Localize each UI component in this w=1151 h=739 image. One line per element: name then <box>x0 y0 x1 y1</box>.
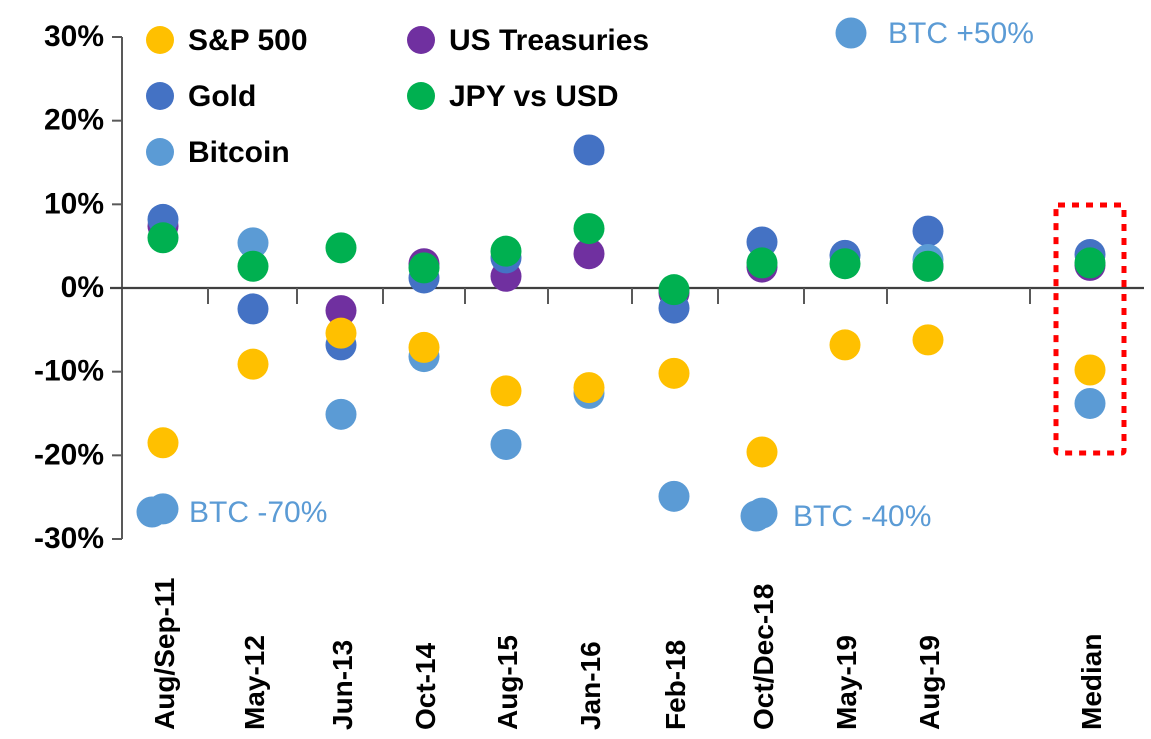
x-axis-tick-label: Jun-13 <box>327 640 358 730</box>
x-axis-tick-label: Aug-19 <box>914 635 945 730</box>
y-axis: 30%20%10%0%-10%-20%-30% <box>34 20 122 555</box>
btc-plus-50-marker <box>836 18 867 49</box>
legend-marker-4 <box>407 26 435 54</box>
y-axis-tick-label: 20% <box>44 104 104 137</box>
x-axis-tick-label: Aug-15 <box>492 635 523 730</box>
data-point[interactable] <box>238 293 269 324</box>
data-point[interactable] <box>747 436 778 467</box>
legend-marker-2 <box>146 82 174 110</box>
btc-minus-70-label: BTC -70% <box>189 496 327 529</box>
data-point[interactable] <box>574 134 605 165</box>
y-axis-tick-label: 10% <box>44 187 104 220</box>
data-point[interactable] <box>326 232 357 263</box>
data-point[interactable] <box>326 318 357 349</box>
data-point[interactable] <box>1075 354 1106 385</box>
data-point[interactable] <box>409 252 440 283</box>
data-point[interactable] <box>491 429 522 460</box>
x-axis-tick-label: Median <box>1076 634 1107 730</box>
data-point[interactable] <box>913 251 944 282</box>
data-point[interactable] <box>326 399 357 430</box>
x-axis: Aug/Sep-11May-12Jun-13Oct-14Aug-15Jan-16… <box>149 578 1107 730</box>
x-axis-tick-label: May-12 <box>239 635 270 730</box>
data-point[interactable] <box>659 481 690 512</box>
data-point[interactable] <box>913 216 944 247</box>
data-point[interactable] <box>830 248 861 279</box>
data-point[interactable] <box>747 247 778 278</box>
btc-minus-40-label: BTC -40% <box>793 500 931 533</box>
legend-label-3: Bitcoin <box>188 136 290 169</box>
data-point[interactable] <box>491 375 522 406</box>
btc-minus-40-marker <box>741 501 772 532</box>
legend-label-1: S&P 500 <box>188 24 308 57</box>
btc-plus-50-label: BTC +50% <box>888 17 1034 50</box>
data-point[interactable] <box>148 222 179 253</box>
x-axis-tick-label: Oct/Dec-18 <box>748 584 779 730</box>
data-point[interactable] <box>238 251 269 282</box>
data-points-layer <box>148 134 1106 528</box>
legend-label-4: US Treasuries <box>449 24 649 57</box>
data-point[interactable] <box>148 427 179 458</box>
x-axis-tick-label: Feb-18 <box>660 640 691 730</box>
btc-minus-70-marker <box>137 497 168 528</box>
y-axis-tick-label: 0% <box>61 271 104 304</box>
scatter-chart: 30%20%10%0%-10%-20%-30% Aug/Sep-11May-12… <box>0 0 1151 739</box>
chart-legend: S&P 500GoldBitcoinUS TreasuriesJPY vs US… <box>146 24 649 169</box>
data-point[interactable] <box>409 332 440 363</box>
data-point[interactable] <box>238 349 269 380</box>
data-point[interactable] <box>830 329 861 360</box>
x-axis-tick-label: Oct-14 <box>410 642 441 730</box>
y-axis-tick-label: -10% <box>34 355 104 388</box>
legend-marker-3 <box>146 138 174 166</box>
legend-marker-5 <box>407 82 435 110</box>
data-point[interactable] <box>574 213 605 244</box>
y-axis-tick-label: -20% <box>34 438 104 471</box>
chart-canvas: 30%20%10%0%-10%-20%-30% Aug/Sep-11May-12… <box>0 0 1151 739</box>
data-point[interactable] <box>1075 247 1106 278</box>
x-axis-tick-label: Jan-16 <box>575 641 606 730</box>
data-point[interactable] <box>913 324 944 355</box>
x-axis-tick-label: May-19 <box>831 635 862 730</box>
data-point[interactable] <box>574 372 605 403</box>
data-point[interactable] <box>491 236 522 267</box>
data-point[interactable] <box>659 358 690 389</box>
data-point[interactable] <box>1075 388 1106 419</box>
data-point[interactable] <box>659 274 690 305</box>
x-axis-tick-label: Aug/Sep-11 <box>149 578 180 730</box>
legend-marker-1 <box>146 26 174 54</box>
y-axis-tick-label: 30% <box>44 20 104 53</box>
y-axis-tick-label: -30% <box>34 522 104 555</box>
legend-label-2: Gold <box>188 80 256 113</box>
legend-label-5: JPY vs USD <box>449 80 619 113</box>
